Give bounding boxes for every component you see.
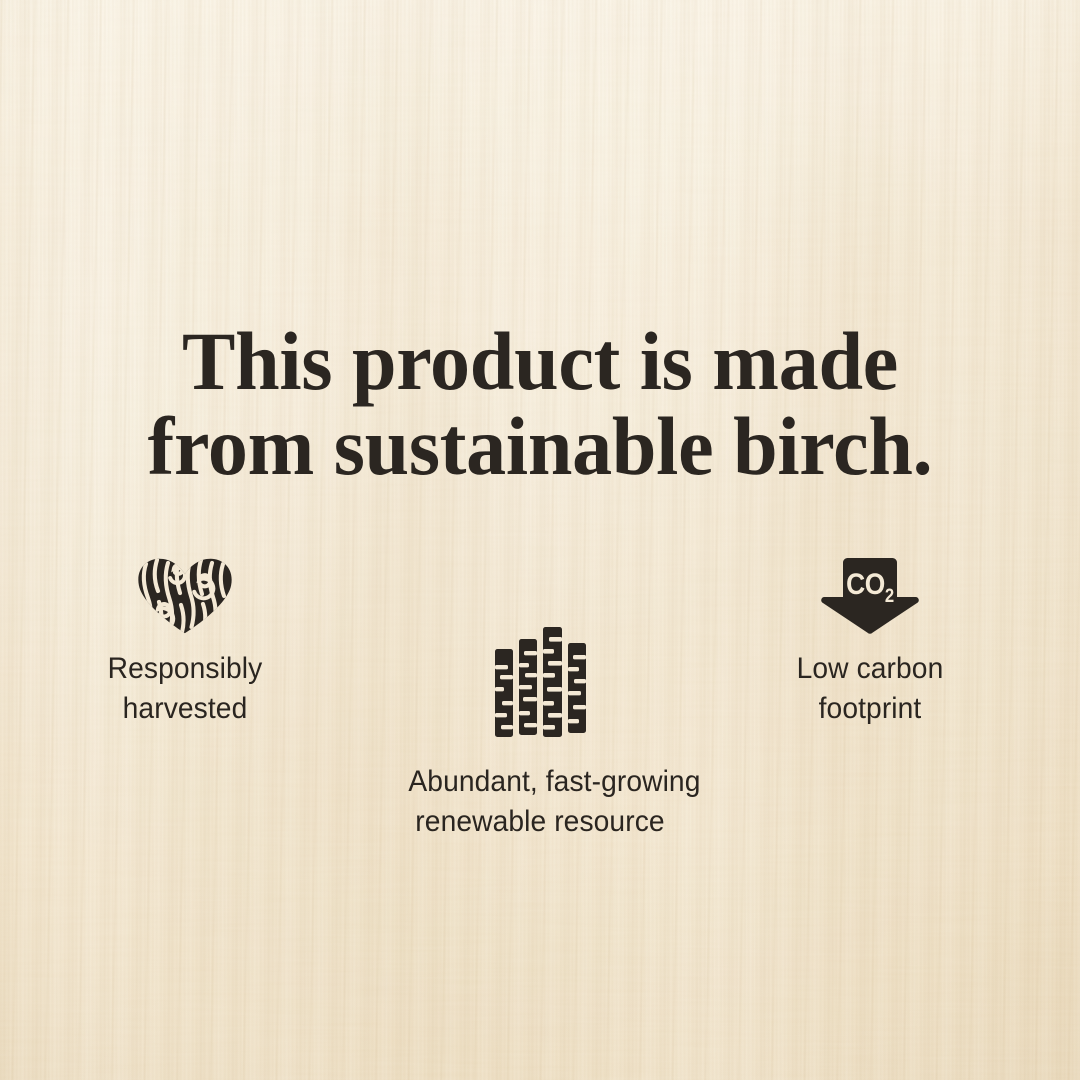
feature-label: Responsibly harvested [53,649,316,729]
feature-label-line-1: Responsibly [53,649,316,689]
feature-label-line-1: Abundant, fast-growing [408,762,671,802]
feature-label-line-2: harvested [53,689,316,729]
feature-responsibly-harvested: Responsibly harvested [45,540,325,729]
feature-icon-wrapper [45,540,325,634]
feature-label: Abundant, fast-growing renewable resourc… [408,762,671,842]
feature-label-line-2: footprint [738,689,1001,729]
feature-low-carbon-footprint: CO2 Low carbon footprint [730,540,1010,729]
co2-down-arrow-icon: CO2 [819,558,921,634]
feature-icon-wrapper: CO2 [730,540,1010,634]
feature-label-line-2: renewable resource [408,802,671,842]
feature-icon-wrapper [400,625,680,737]
page-title-line-2: from sustainable birch. [19,405,1061,488]
feature-renewable-resource: Abundant, fast-growing renewable resourc… [400,625,680,842]
birch-trunks-icon [493,627,588,737]
page-title-line-1: This product is made [19,320,1061,403]
page-title: This product is made from sustainable bi… [19,320,1061,488]
sustainability-poster: This product is made from sustainable bi… [0,0,1080,1080]
feature-list: Responsibly harvested [0,540,1080,860]
feature-label-line-1: Low carbon [738,649,1001,689]
feature-label: Low carbon footprint [738,649,1001,729]
wood-grain-heart-icon [137,558,233,634]
